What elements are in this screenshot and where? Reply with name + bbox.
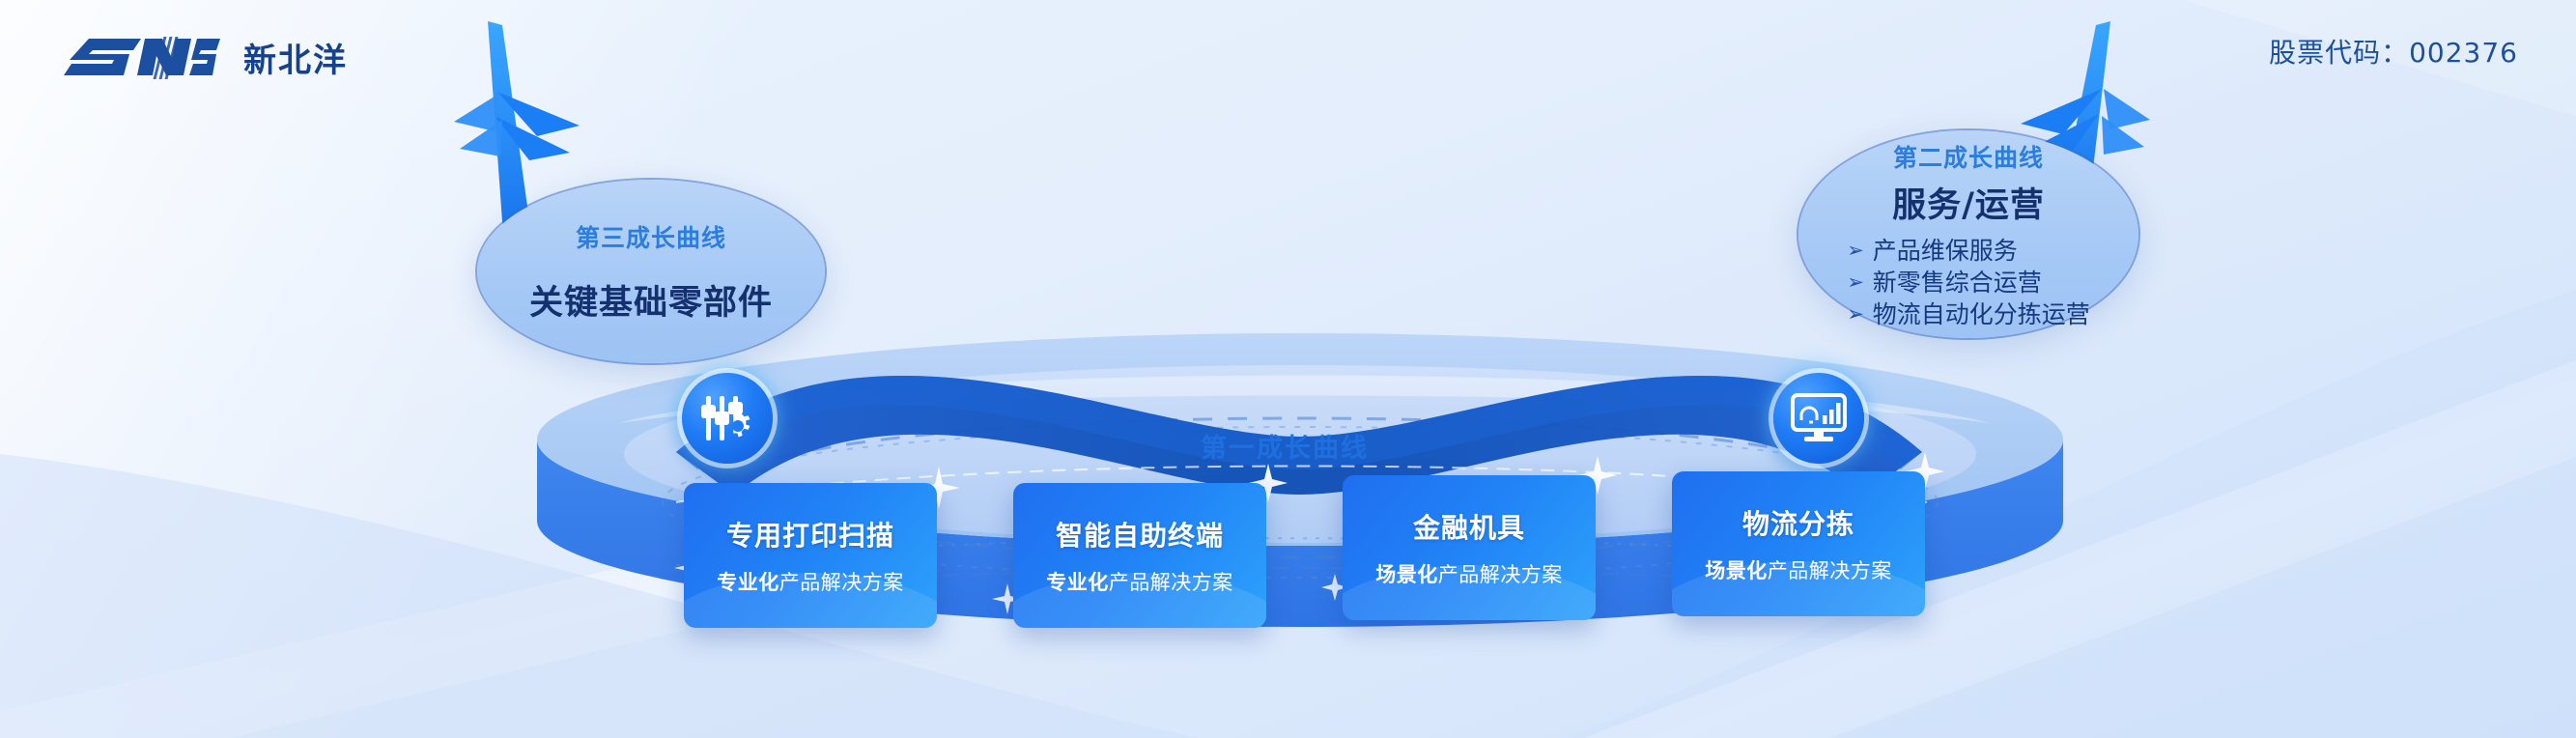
subtitle-rest: 产品解决方案 — [1109, 571, 1233, 594]
product-card-title: 智能自助终端 — [1056, 515, 1224, 553]
list-item-label: 产品维保服务 — [1873, 235, 2018, 267]
product-card[interactable]: 物流分拣 场景化产品解决方案 — [1672, 471, 1925, 616]
list-item-label: 物流自动化分拣运营 — [1873, 298, 2090, 330]
arrow-bullet-icon: ➢ — [1847, 241, 1864, 261]
third-curve-title: 关键基础零部件 — [529, 275, 773, 325]
list-item: ➢ 新零售综合运营 — [1847, 267, 2090, 298]
brand-logo[interactable]: 新北洋 — [56, 35, 348, 79]
product-card[interactable]: 金融机具 场景化产品解决方案 — [1343, 475, 1596, 620]
third-curve-kicker: 第三成长曲线 — [576, 219, 726, 254]
second-curve-bullet-list: ➢ 产品维保服务 ➢ 新零售综合运营 ➢ 物流自动化分拣运营 — [1847, 235, 2090, 330]
subtitle-strong: 专业化 — [717, 571, 779, 594]
subtitle-rest: 产品解决方案 — [1438, 563, 1563, 586]
product-card[interactable]: 智能自助终端 专业化产品解决方案 — [1013, 483, 1266, 628]
subtitle-strong: 专业化 — [1046, 571, 1109, 594]
arrow-bullet-icon: ➢ — [1847, 304, 1864, 325]
subtitle-rest: 产品解决方案 — [779, 571, 904, 594]
second-curve-kicker: 第二成长曲线 — [1893, 139, 2044, 174]
arrow-bullet-icon: ➢ — [1847, 272, 1864, 293]
growth-curve-infographic: 新北洋 股票代码：002376 第三成长曲线 关键基础零部件 第二成长曲线 服务… — [0, 0, 2576, 738]
list-item: ➢ 物流自动化分拣运营 — [1847, 298, 2090, 330]
product-card-subtitle: 场景化产品解决方案 — [1375, 559, 1563, 588]
product-card-subtitle: 专业化产品解决方案 — [1046, 567, 1233, 596]
monitor-headset-chart-icon[interactable] — [1773, 373, 1864, 464]
brand-logo-cn: 新北洋 — [243, 44, 348, 79]
second-curve-title: 服务/运营 — [1892, 178, 2045, 227]
snbc-logo-icon — [56, 35, 230, 79]
product-card-subtitle: 专业化产品解决方案 — [717, 567, 904, 596]
list-item: ➢ 产品维保服务 — [1847, 235, 2090, 267]
first-growth-curve-label: 第一成长曲线 — [1201, 427, 1369, 465]
subtitle-strong: 场景化 — [1375, 563, 1438, 586]
service-operations-glyph — [1790, 391, 1848, 445]
product-card-subtitle: 场景化产品解决方案 — [1705, 555, 1892, 584]
sliders-gear-glyph — [697, 388, 757, 448]
list-item-label: 新零售综合运营 — [1873, 267, 2042, 298]
background-artwork — [0, 0, 2576, 738]
sliders-gear-icon[interactable] — [682, 373, 773, 464]
product-card-title: 金融机具 — [1413, 507, 1525, 546]
third-growth-curve-bubble[interactable]: 第三成长曲线 关键基础零部件 — [477, 180, 825, 363]
subtitle-rest: 产品解决方案 — [1768, 559, 1892, 582]
product-card[interactable]: 专用打印扫描 专业化产品解决方案 — [684, 483, 937, 628]
product-card-title: 物流分拣 — [1742, 503, 1854, 542]
subtitle-strong: 场景化 — [1705, 559, 1768, 582]
stock-code-label: 股票代码：002376 — [2269, 32, 2518, 71]
product-card-title: 专用打印扫描 — [726, 515, 894, 553]
second-growth-curve-bubble[interactable]: 第二成长曲线 服务/运营 ➢ 产品维保服务 ➢ 新零售综合运营 ➢ 物流自动化分… — [1798, 130, 2138, 338]
